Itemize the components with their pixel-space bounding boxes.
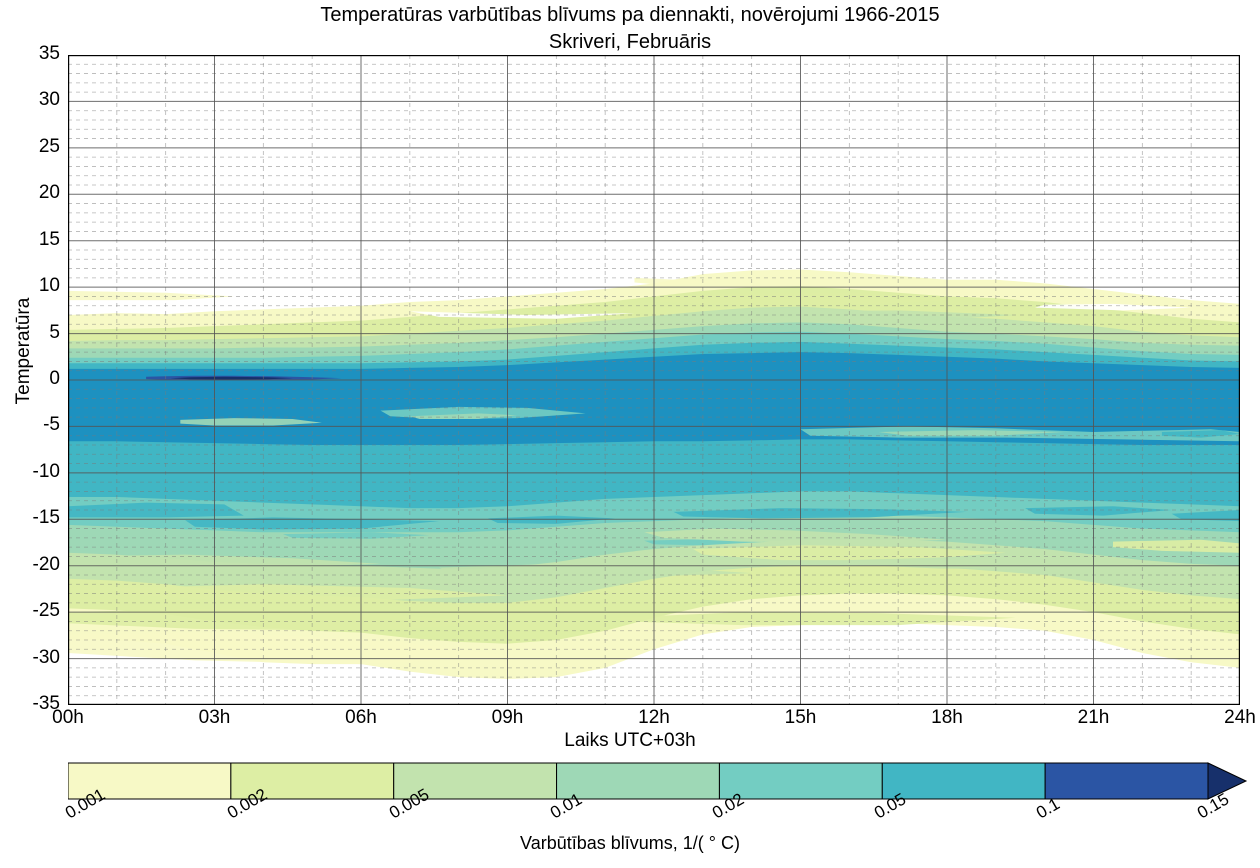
x-tick-label: 18h: [912, 707, 982, 729]
chart-subtitle: Skriveri, Februāris: [0, 31, 1260, 54]
x-tick-label: 03h: [180, 707, 250, 729]
colorbar-swatch-3: [557, 763, 720, 799]
x-tick-label: 12h: [619, 707, 689, 729]
y-axis-title: Temperatūra: [13, 251, 35, 451]
y-tick-label: 35: [4, 43, 60, 65]
x-tick-label: 21h: [1059, 707, 1129, 729]
colorbar-swatch-4: [719, 763, 882, 799]
y-tick-label: 25: [4, 136, 60, 158]
chart-page: Temperatūras varbūtības blīvums pa dienn…: [0, 0, 1260, 868]
y-tick-label: 15: [4, 229, 60, 251]
y-tick-label: 20: [4, 182, 60, 204]
y-tick-label: -20: [4, 554, 60, 576]
y-tick-label: -10: [4, 461, 60, 483]
y-tick-label: -25: [4, 600, 60, 622]
y-tick-label: -15: [4, 507, 60, 529]
x-tick-label: 06h: [326, 707, 396, 729]
colorbar-swatch-6: [1045, 763, 1208, 799]
x-tick-label: 09h: [473, 707, 543, 729]
contour-plot-svg: [68, 55, 1240, 705]
x-axis-title: Laiks UTC+03h: [0, 730, 1260, 752]
x-tick-label: 24h: [1205, 707, 1260, 729]
chart-title: Temperatūras varbūtības blīvums pa dienn…: [0, 4, 1260, 27]
x-tick-label: 15h: [766, 707, 836, 729]
y-tick-label: -30: [4, 647, 60, 669]
colorbar: [68, 762, 1240, 798]
colorbar-swatch-5: [882, 763, 1045, 799]
x-tick-label: 00h: [33, 707, 103, 729]
plot-area: [68, 55, 1240, 705]
y-tick-label: 30: [4, 89, 60, 111]
colorbar-title: Varbūtības blīvums, 1/( ° C): [0, 833, 1260, 854]
